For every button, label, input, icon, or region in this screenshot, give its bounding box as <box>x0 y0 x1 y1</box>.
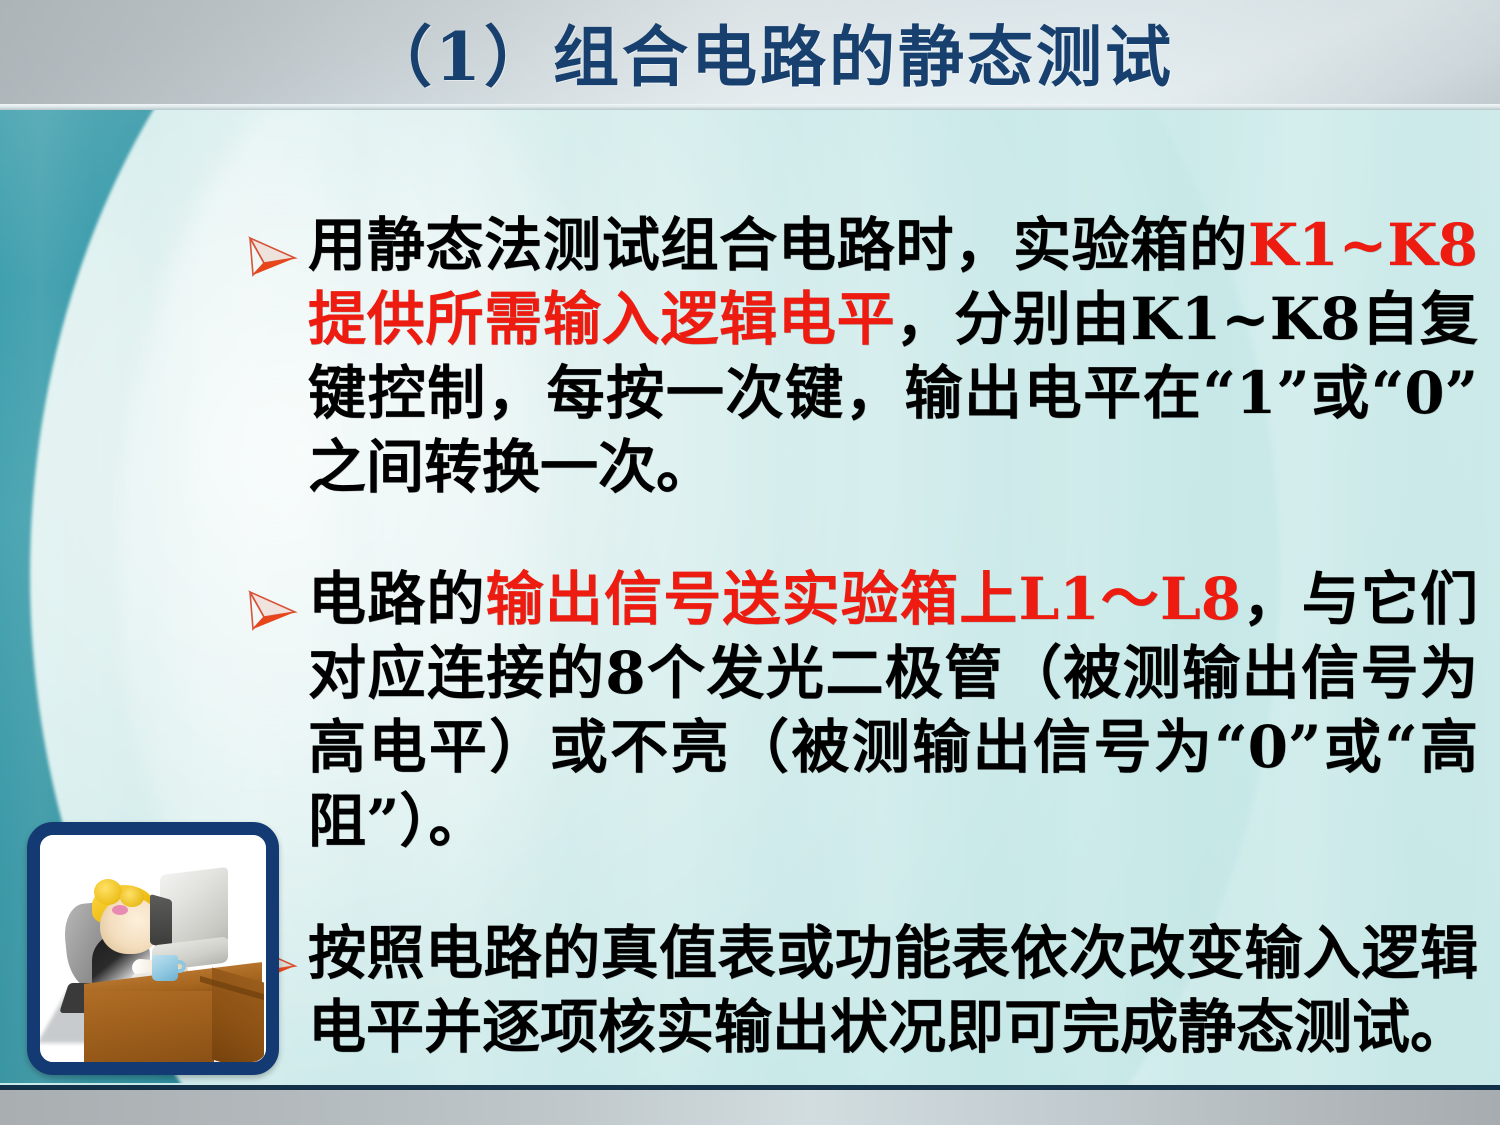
page-title: （1）组合电路的静态测试 <box>0 0 1500 104</box>
bullet-text-1a: 用静态法测试组合电路时，实验箱的 <box>308 211 1248 279</box>
clipart-monitor-screen <box>150 894 172 950</box>
arrowhead-bullet-icon <box>248 576 298 620</box>
picture-frame <box>27 822 279 1075</box>
bullet-text-2b-highlight: 输出信号送实验箱上L1～L8 <box>486 565 1242 633</box>
clipart-person-ribbon <box>112 905 128 915</box>
title-bar-divider <box>0 104 1500 110</box>
footer-bar <box>0 1090 1500 1125</box>
bullet-item-1: 用静态法测试组合电路时，实验箱的K1~K8提供所需输入逻辑电平，分别由K1~K8… <box>248 208 1478 504</box>
arrowhead-bullet-icon <box>248 222 298 266</box>
clipart-mug <box>152 955 178 981</box>
slide-root: （1）组合电路的静态测试 用静态法测试组合电路时，实验箱的K1~K8提供所需输入… <box>0 0 1500 1125</box>
bullet-item-2: 电路的输出信号送实验箱上L1～L8，与它们对应连接的8个发光二极管（被测输出信号… <box>248 562 1478 858</box>
clipart-desk-front <box>84 991 214 1062</box>
clipart-person-hair-bun-2 <box>120 887 144 907</box>
bullet-item-3: 按照电路的真值表或功能表依次改变输入逻辑电平并逐项核实输出状况即可完成静态测试。 <box>248 916 1478 1064</box>
bullet-list: 用静态法测试组合电路时，实验箱的K1~K8提供所需输入逻辑电平，分别由K1~K8… <box>248 150 1478 1078</box>
bullet-text-3a: 按照电路的真值表或功能表依次改变输入逻辑电平并逐项核实输出状况即可完成静态测试。 <box>308 919 1478 1061</box>
bullet-text-2a: 电路的 <box>308 565 486 633</box>
person-at-computer-desk-clipart <box>40 835 266 1062</box>
clipart-person-hair-bun <box>94 879 122 905</box>
